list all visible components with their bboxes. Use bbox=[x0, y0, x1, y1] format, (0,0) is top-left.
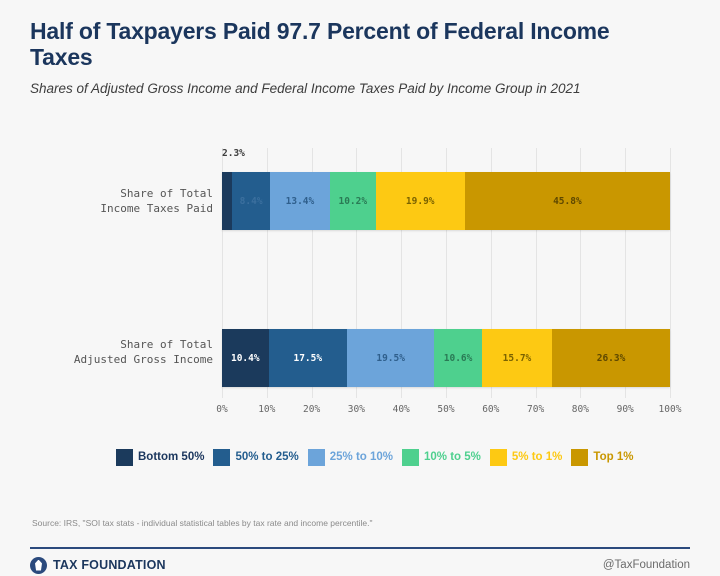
bar-segment bbox=[222, 172, 232, 230]
x-axis-tick-label: 30% bbox=[348, 404, 365, 415]
x-axis-tick-label: 50% bbox=[437, 404, 454, 415]
category-label-adjusted-gross-income: Share of Total Adjusted Gross Income bbox=[48, 337, 213, 367]
page-subtitle: Shares of Adjusted Gross Income and Fede… bbox=[30, 80, 680, 98]
bar-income-taxes-paid: 8.4%13.4%10.2%19.9%45.8% bbox=[222, 172, 670, 230]
legend-label: Bottom 50% bbox=[138, 451, 204, 463]
legend-swatch-icon bbox=[116, 449, 133, 466]
x-axis-tick-label: 70% bbox=[527, 404, 544, 415]
segment-value-callout: 2.3% bbox=[222, 148, 245, 159]
segment-value-label: 8.4% bbox=[240, 196, 263, 207]
footer-divider bbox=[30, 547, 690, 549]
chart-canvas: Half of Taxpayers Paid 97.7 Percent of F… bbox=[8, 6, 712, 570]
segment-value-label: 17.5% bbox=[293, 353, 322, 364]
bar-segment: 8.4% bbox=[232, 172, 270, 230]
x-axis-tick-label: 20% bbox=[303, 404, 320, 415]
legend-item[interactable]: Top 1% bbox=[571, 449, 633, 466]
legend-item[interactable]: 10% to 5% bbox=[402, 449, 481, 466]
bar-segment: 15.7% bbox=[482, 329, 552, 387]
bar-segment: 17.5% bbox=[269, 329, 347, 387]
legend-item[interactable]: 25% to 10% bbox=[308, 449, 393, 466]
bar-segment: 45.8% bbox=[465, 172, 670, 230]
legend-label: 5% to 1% bbox=[512, 451, 563, 463]
x-axis-tick-label: 100% bbox=[659, 404, 682, 415]
source-note: Source: IRS, "SOI tax stats - individual… bbox=[32, 518, 373, 528]
segment-value-label: 19.9% bbox=[406, 196, 435, 207]
legend-label: 25% to 10% bbox=[330, 451, 393, 463]
segment-value-label: 10.6% bbox=[444, 353, 473, 364]
bar-segment: 10.6% bbox=[434, 329, 481, 387]
legend-item[interactable]: 50% to 25% bbox=[213, 449, 298, 466]
page-title: Half of Taxpayers Paid 97.7 Percent of F… bbox=[30, 18, 650, 70]
x-axis-tick-label: 10% bbox=[258, 404, 275, 415]
x-axis-tick-label: 40% bbox=[393, 404, 410, 415]
bar-segment: 10.4% bbox=[222, 329, 269, 387]
segment-value-label: 26.3% bbox=[597, 353, 626, 364]
brand-name: TAX FOUNDATION bbox=[53, 558, 166, 572]
bar-segment: 19.9% bbox=[376, 172, 465, 230]
segment-value-label: 13.4% bbox=[286, 196, 315, 207]
legend-swatch-icon bbox=[213, 449, 230, 466]
infographic-page: Half of Taxpayers Paid 97.7 Percent of F… bbox=[0, 0, 720, 576]
x-axis-tick-label: 90% bbox=[617, 404, 634, 415]
segment-value-label: 10.4% bbox=[231, 353, 260, 364]
bar-segment: 26.3% bbox=[552, 329, 670, 387]
legend-swatch-icon bbox=[402, 449, 419, 466]
bar-segment: 10.2% bbox=[330, 172, 376, 230]
segment-value-label: 19.5% bbox=[376, 353, 405, 364]
gridline bbox=[670, 148, 671, 398]
category-label-income-taxes-paid: Share of Total Income Taxes Paid bbox=[48, 186, 213, 216]
brand: TAX FOUNDATION bbox=[30, 557, 166, 574]
plot-area: 8.4%13.4%10.2%19.9%45.8% 10.4%17.5%19.5%… bbox=[222, 164, 670, 398]
social-handle: @TaxFoundation bbox=[603, 559, 690, 571]
segment-value-label: 45.8% bbox=[553, 196, 582, 207]
legend-swatch-icon bbox=[308, 449, 325, 466]
bar-adjusted-gross-income: 10.4%17.5%19.5%10.6%15.7%26.3% bbox=[222, 329, 670, 387]
legend-item[interactable]: Bottom 50% bbox=[116, 449, 204, 466]
x-axis-tick-label: 0% bbox=[216, 404, 227, 415]
legend-swatch-icon bbox=[571, 449, 588, 466]
footer: TAX FOUNDATION @TaxFoundation bbox=[30, 554, 690, 576]
segment-value-label: 15.7% bbox=[503, 353, 532, 364]
legend-label: Top 1% bbox=[593, 451, 633, 463]
legend-label: 50% to 25% bbox=[235, 451, 298, 463]
bar-segment: 13.4% bbox=[270, 172, 330, 230]
segment-value-label: 10.2% bbox=[338, 196, 367, 207]
x-axis-tick-label: 60% bbox=[482, 404, 499, 415]
legend-item[interactable]: 5% to 1% bbox=[490, 449, 563, 466]
x-axis-ticks: 0%10%20%30%40%50%60%70%80%90%100% bbox=[222, 404, 670, 420]
bar-segment: 19.5% bbox=[347, 329, 434, 387]
legend-swatch-icon bbox=[490, 449, 507, 466]
tax-foundation-logo-icon bbox=[30, 557, 47, 574]
chart-legend: Bottom 50%50% to 25%25% to 10%10% to 5%5… bbox=[116, 444, 706, 470]
x-axis-tick-label: 80% bbox=[572, 404, 589, 415]
legend-label: 10% to 5% bbox=[424, 451, 481, 463]
